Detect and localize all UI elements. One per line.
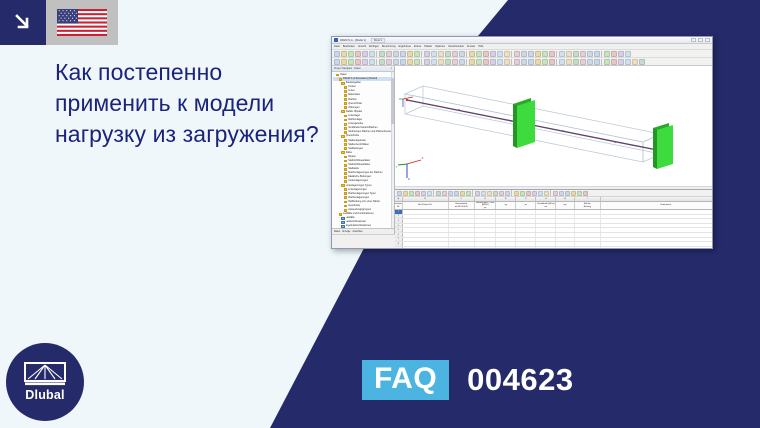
toolbar-button-24-icon[interactable] xyxy=(490,51,496,57)
table-cell[interactable] xyxy=(449,242,475,246)
toolbar-button-7-icon[interactable] xyxy=(379,51,385,57)
table-cell[interactable] xyxy=(496,242,516,246)
grid-column-header-1[interactable]: An Flächen Nr. xyxy=(403,202,449,209)
toolbar-button-30-icon[interactable] xyxy=(528,51,534,57)
dlubal-logo[interactable]: Dlubal xyxy=(6,343,84,421)
folder-blue-icon xyxy=(341,221,344,224)
toolbar-button-17-icon[interactable] xyxy=(445,51,451,57)
app-titlebar: RFEM 5.xx - [Model 1] Model 1 xyxy=(332,37,712,44)
toolbar-button-21-icon[interactable] xyxy=(469,51,475,57)
window-controls[interactable] xyxy=(691,38,710,42)
grid-group-header[interactable]: I xyxy=(575,197,601,201)
toolbar-button-9-icon[interactable] xyxy=(393,51,399,57)
view-horizontal-scrollbar[interactable] xyxy=(395,186,713,189)
grid-rows[interactable]: 1234567891011 xyxy=(395,210,713,249)
table-cell[interactable] xyxy=(496,224,516,228)
toolbar-button-2-icon[interactable] xyxy=(348,51,354,57)
menu-item-4[interactable]: Berechnung xyxy=(382,45,395,48)
table-toolbar[interactable] xyxy=(395,190,713,197)
table-toolbar-button-19-icon[interactable] xyxy=(505,191,510,196)
grid-column-label: my xyxy=(564,204,567,207)
row-number-cell[interactable]: 8 xyxy=(395,242,403,246)
folder-icon xyxy=(344,147,347,150)
toolbar2-button-8-icon[interactable] xyxy=(386,59,392,65)
table-toolbar-button-5-icon[interactable] xyxy=(427,191,432,196)
folder-icon xyxy=(344,196,347,199)
toolbar-button-35-icon[interactable] xyxy=(559,51,565,57)
toolbar2-button-1-icon[interactable] xyxy=(341,59,347,65)
toolbar-separator xyxy=(556,51,558,57)
table-cell[interactable] xyxy=(556,228,574,232)
table-toolbar-button-23-icon[interactable] xyxy=(526,191,531,196)
row-number-cell[interactable]: 6 xyxy=(395,233,403,237)
grid-column-header-row: BelastungNr.An Flächen Nr.Exzentrizitätm… xyxy=(395,202,713,210)
toolbar2-button-22-icon[interactable] xyxy=(476,59,482,65)
table-cell[interactable] xyxy=(496,210,516,214)
toolbar2-button-19-icon[interactable] xyxy=(459,59,465,65)
table-cell[interactable] xyxy=(475,215,497,219)
toolbar2-button-31-icon[interactable] xyxy=(535,59,541,65)
table-cell[interactable] xyxy=(475,242,497,246)
tree-scrollbar-thumb[interactable] xyxy=(391,78,394,124)
toolbar-button-1-icon[interactable] xyxy=(341,51,347,57)
navigator-tab-2[interactable]: Ansichten xyxy=(352,231,362,233)
model-3d-view[interactable]: X Y Z xyxy=(395,66,713,190)
toolbar-button-12-icon[interactable] xyxy=(414,51,420,57)
table-toolbar-button-12-icon[interactable] xyxy=(466,191,471,196)
toolbar-button-36-icon[interactable] xyxy=(566,51,572,57)
page-title: Как постепенно применить к модели нагруз… xyxy=(55,57,325,150)
toolbar2-button-43-icon[interactable] xyxy=(611,59,617,65)
table-cell[interactable] xyxy=(449,210,475,214)
toolbar-button-38-icon[interactable] xyxy=(580,51,586,57)
table-cell[interactable] xyxy=(475,233,497,237)
toolbar2-button-39-icon[interactable] xyxy=(587,59,593,65)
table-cell[interactable] xyxy=(556,210,574,214)
toolbar2-button-28-icon[interactable] xyxy=(514,59,520,65)
grid-group-header[interactable]: G xyxy=(536,197,556,201)
data-grid[interactable]: ABCDEFGHI BelastungNr.An Flächen Nr.Exze… xyxy=(395,197,713,249)
table-cell[interactable] xyxy=(475,247,497,249)
toolbar-separator xyxy=(601,59,603,65)
arrow-down-right-button[interactable] xyxy=(0,0,46,45)
table-cell[interactable] xyxy=(496,238,516,242)
toolbar2-button-14-icon[interactable] xyxy=(424,59,430,65)
table-cell[interactable] xyxy=(601,242,713,246)
toolbar-button-18-icon[interactable] xyxy=(452,51,458,57)
toolbar2-button-21-icon[interactable] xyxy=(469,59,475,65)
table-cell[interactable] xyxy=(536,224,556,228)
table-cell[interactable] xyxy=(496,233,516,237)
table-toolbar-button-1-icon[interactable] xyxy=(403,191,408,196)
table-cell[interactable] xyxy=(475,219,497,223)
toolbar2-button-38-icon[interactable] xyxy=(580,59,586,65)
table-cell[interactable] xyxy=(575,215,601,219)
app-toolbar-row-1[interactable] xyxy=(332,50,712,58)
table-cell[interactable] xyxy=(536,242,556,246)
toolbar-button-8-icon[interactable] xyxy=(386,51,392,57)
table-toolbar-button-0-icon[interactable] xyxy=(397,191,402,196)
grid-column-header-6[interactable]: Schnittkraft [kN·m]mx xyxy=(536,202,556,209)
table-cell[interactable] xyxy=(536,238,556,242)
tree-node[interactable]: -Ergebniskombinationen xyxy=(333,224,394,228)
menu-item-5[interactable]: Ergebnisse xyxy=(399,45,412,48)
table-cell[interactable] xyxy=(475,238,497,242)
table-cell[interactable] xyxy=(496,215,516,219)
table-cell[interactable] xyxy=(536,210,556,214)
table-toolbar-button-18-icon[interactable] xyxy=(499,191,504,196)
table-toolbar-button-16-icon[interactable] xyxy=(487,191,492,196)
toolbar-separator xyxy=(376,59,378,65)
row-number-cell[interactable]: 7 xyxy=(395,238,403,242)
table-cell[interactable] xyxy=(496,219,516,223)
folder-icon xyxy=(344,176,347,179)
row-number-cell[interactable]: 3 xyxy=(395,219,403,223)
toolbar2-button-45-icon[interactable] xyxy=(625,59,631,65)
grid-group-header[interactable]: B xyxy=(403,197,449,201)
grid-column-header-7[interactable]: my xyxy=(556,202,574,209)
folder-blue-icon xyxy=(341,217,344,220)
table-toolbar-button-25-icon[interactable] xyxy=(538,191,543,196)
toolbar-button-25-icon[interactable] xyxy=(497,51,503,57)
flag-usa-button[interactable] xyxy=(46,0,118,45)
table-cell[interactable] xyxy=(449,219,475,223)
table-cell[interactable] xyxy=(403,224,449,228)
table-cell[interactable] xyxy=(575,228,601,232)
table-cell[interactable] xyxy=(496,247,516,249)
toolbar2-button-30-icon[interactable] xyxy=(528,59,534,65)
toolbar2-button-10-icon[interactable] xyxy=(400,59,406,65)
toolbar2-button-36-icon[interactable] xyxy=(566,59,572,65)
toolbar-button-45-icon[interactable] xyxy=(625,51,631,57)
grid-group-header[interactable]: D xyxy=(475,197,497,201)
toolbar-button-26-icon[interactable] xyxy=(504,51,510,57)
toolbar-button-23-icon[interactable] xyxy=(483,51,489,57)
table-cell[interactable] xyxy=(403,219,449,223)
toolbar2-button-33-icon[interactable] xyxy=(549,59,555,65)
table-toolbar-button-15-icon[interactable] xyxy=(481,191,486,196)
beam-member xyxy=(407,100,667,152)
toolbar2-button-2-icon[interactable] xyxy=(348,59,354,65)
table-cell[interactable] xyxy=(403,228,449,232)
folder-icon xyxy=(341,151,344,154)
toolbar2-button-23-icon[interactable] xyxy=(483,59,489,65)
table-cell[interactable] xyxy=(575,219,601,223)
table-cell[interactable] xyxy=(449,228,475,232)
table-toolbar-button-30-icon[interactable] xyxy=(565,191,570,196)
table-toolbar-button-29-icon[interactable] xyxy=(559,191,564,196)
folder-icon xyxy=(344,180,347,183)
toolbar2-button-0-icon[interactable] xyxy=(334,59,340,65)
table-cell[interactable] xyxy=(516,215,536,219)
toolbar-button-11-icon[interactable] xyxy=(407,51,413,57)
toolbar-button-22-icon[interactable] xyxy=(476,51,482,57)
table-cell[interactable] xyxy=(556,219,574,223)
table-toolbar-button-4-icon[interactable] xyxy=(421,191,426,196)
table-row[interactable]: 9 xyxy=(395,247,713,249)
toolbar-button-43-icon[interactable] xyxy=(611,51,617,57)
table-toolbar-button-17-icon[interactable] xyxy=(493,191,498,196)
grid-group-header[interactable]: A xyxy=(395,197,403,201)
toolbar2-button-46-icon[interactable] xyxy=(632,59,638,65)
toolbar-button-4-icon[interactable] xyxy=(362,51,368,57)
toolbar2-button-42-icon[interactable] xyxy=(604,59,610,65)
table-cell[interactable] xyxy=(601,233,713,237)
table-cell[interactable] xyxy=(536,215,556,219)
bridge-truss-icon xyxy=(24,362,66,386)
table-toolbar-button-21-icon[interactable] xyxy=(514,191,519,196)
table-toolbar-button-26-icon[interactable] xyxy=(544,191,549,196)
toolbar-button-44-icon[interactable] xyxy=(618,51,624,57)
toolbar2-button-32-icon[interactable] xyxy=(542,59,548,65)
toolbar2-button-18-icon[interactable] xyxy=(452,59,458,65)
menu-item-6[interactable]: Extras xyxy=(414,45,421,48)
table-cell[interactable] xyxy=(575,233,601,237)
table-toolbar-button-10-icon[interactable] xyxy=(454,191,459,196)
toolbar2-button-9-icon[interactable] xyxy=(393,59,399,65)
toolbar2-button-3-icon[interactable] xyxy=(355,59,361,65)
toolbar2-button-37-icon[interactable] xyxy=(573,59,579,65)
table-cell[interactable] xyxy=(556,224,574,228)
tree-scrollbar[interactable] xyxy=(391,72,394,228)
toolbar-button-19-icon[interactable] xyxy=(459,51,465,57)
table-toolbar-button-8-icon[interactable] xyxy=(442,191,447,196)
toolbar-button-14-icon[interactable] xyxy=(424,51,430,57)
toolbar-button-33-icon[interactable] xyxy=(549,51,555,57)
table-cell[interactable] xyxy=(556,247,574,249)
menu-item-3[interactable]: Einfügen xyxy=(369,45,379,48)
table-cell[interactable] xyxy=(516,247,536,249)
table-cell[interactable] xyxy=(403,233,449,237)
menu-item-11[interactable]: Hilfe xyxy=(478,45,483,48)
table-toolbar-button-24-icon[interactable] xyxy=(532,191,537,196)
table-cell[interactable] xyxy=(556,238,574,242)
toolbar2-button-17-icon[interactable] xyxy=(445,59,451,65)
menu-item-10[interactable]: Fenster xyxy=(467,45,475,48)
table-cell[interactable] xyxy=(516,224,536,228)
folder-icon xyxy=(344,131,347,134)
table-cell[interactable] xyxy=(575,210,601,214)
grid-column-label: pz xyxy=(525,204,527,207)
toolbar2-button-5-icon[interactable] xyxy=(369,59,375,65)
project-navigator-panel: Project Navigator - Daten × -Daten-RFEM … xyxy=(332,66,395,234)
row-number-cell[interactable]: 4 xyxy=(395,224,403,228)
workspace: X Y Z ABCDEFGHI BelastungNr.An Flächen N… xyxy=(395,66,713,234)
table-cell[interactable] xyxy=(475,210,497,214)
table-cell[interactable] xyxy=(601,247,713,249)
menu-item-1[interactable]: Bearbeiten xyxy=(343,45,355,48)
project-navigator-tabs[interactable]: DatenAnzeigeAnsichten xyxy=(332,228,394,234)
grid-column-header-2[interactable]: Exzentrizitätmit RF-SOLID xyxy=(449,202,475,209)
row-number-cell[interactable]: 1 xyxy=(395,210,403,214)
table-cell[interactable] xyxy=(516,210,536,214)
folder-icon xyxy=(344,86,347,89)
navigator-tab-0[interactable]: Daten xyxy=(334,231,340,233)
table-cell[interactable] xyxy=(516,219,536,223)
table-toolbar-button-31-icon[interactable] xyxy=(571,191,576,196)
tree-node-label: Ergebniskombinationen xyxy=(346,224,371,228)
table-cell[interactable] xyxy=(575,238,601,242)
grid-column-header-8[interactable]: Auf dieBeltung xyxy=(575,202,601,209)
folder-icon xyxy=(344,90,347,93)
menu-item-7[interactable]: Tabelle xyxy=(424,45,432,48)
table-cell[interactable] xyxy=(556,215,574,219)
folder-icon xyxy=(344,156,347,159)
toolbar-button-10-icon[interactable] xyxy=(400,51,406,57)
table-cell[interactable] xyxy=(556,242,574,246)
grid-group-header[interactable]: H xyxy=(556,197,574,201)
row-number-cell[interactable]: 9 xyxy=(395,247,403,249)
grid-group-header[interactable]: F xyxy=(516,197,536,201)
toolbar2-button-16-icon[interactable] xyxy=(438,59,444,65)
table-cell[interactable] xyxy=(403,210,449,214)
table-cell[interactable] xyxy=(449,224,475,228)
svg-text:Y: Y xyxy=(396,165,398,169)
table-cell[interactable] xyxy=(601,219,713,223)
menu-item-2[interactable]: Ansicht xyxy=(358,45,366,48)
toolbar2-button-29-icon[interactable] xyxy=(521,59,527,65)
toolbar2-button-15-icon[interactable] xyxy=(431,59,437,65)
table-cell[interactable] xyxy=(475,224,497,228)
table-cell[interactable] xyxy=(556,233,574,237)
table-cell[interactable] xyxy=(516,238,536,242)
table-cell[interactable] xyxy=(403,238,449,242)
menu-item-8[interactable]: Optionen xyxy=(435,45,445,48)
toolbar2-button-26-icon[interactable] xyxy=(504,59,510,65)
close-icon[interactable]: × xyxy=(391,67,392,70)
toolbar-button-39-icon[interactable] xyxy=(587,51,593,57)
table-cell[interactable] xyxy=(449,247,475,249)
table-toolbar-button-7-icon[interactable] xyxy=(436,191,441,196)
toolbar-button-15-icon[interactable] xyxy=(431,51,437,57)
table-cell[interactable] xyxy=(601,210,713,214)
table-toolbar-button-32-icon[interactable] xyxy=(577,191,582,196)
toolbar-button-32-icon[interactable] xyxy=(542,51,548,57)
toolbar2-button-44-icon[interactable] xyxy=(618,59,624,65)
toolbar2-button-47-icon[interactable] xyxy=(639,59,645,65)
folder-icon xyxy=(341,110,344,113)
grid-group-header[interactable]: C xyxy=(449,197,475,201)
grid-column-header-4[interactable]: py xyxy=(496,202,516,209)
table-cell[interactable] xyxy=(601,224,713,228)
toolbar2-button-4-icon[interactable] xyxy=(362,59,368,65)
table-toolbar-button-2-icon[interactable] xyxy=(409,191,414,196)
folder-blue-icon xyxy=(341,225,344,228)
toolbar2-button-40-icon[interactable] xyxy=(594,59,600,65)
toolbar2-button-25-icon[interactable] xyxy=(497,59,503,65)
table-cell[interactable] xyxy=(575,247,601,249)
grid-column-label: mit RF-SOLID xyxy=(455,206,468,209)
table-cell[interactable] xyxy=(601,238,713,242)
table-cell[interactable] xyxy=(403,242,449,246)
folder-icon xyxy=(344,209,347,212)
toolbar-button-5-icon[interactable] xyxy=(369,51,375,57)
table-cell[interactable] xyxy=(536,233,556,237)
toolbar2-button-12-icon[interactable] xyxy=(414,59,420,65)
project-navigator-tree[interactable]: -Daten-RFEM 5 (Arbeitsdaten) [Modell]-Ba… xyxy=(332,72,394,228)
maximize-icon[interactable] xyxy=(698,38,703,42)
grid-column-header-9[interactable]: Kommentar xyxy=(601,202,713,209)
grid-column-label: mx xyxy=(544,206,547,209)
table-cell[interactable] xyxy=(575,224,601,228)
close-icon[interactable] xyxy=(705,38,710,42)
toolbar2-button-11-icon[interactable] xyxy=(407,59,413,65)
table-cell[interactable] xyxy=(536,228,556,232)
grid-column-header-0[interactable]: BelastungNr. xyxy=(395,202,403,209)
grid-group-header[interactable]: E xyxy=(496,197,516,201)
table-toolbar-button-3-icon[interactable] xyxy=(415,191,420,196)
toolbar-button-3-icon[interactable] xyxy=(355,51,361,57)
toolbar-button-16-icon[interactable] xyxy=(438,51,444,57)
toolbar-separator xyxy=(601,51,603,57)
menu-item-0[interactable]: Datei xyxy=(334,45,340,48)
table-cell[interactable] xyxy=(536,219,556,223)
table-cell[interactable] xyxy=(403,247,449,249)
table-cell[interactable] xyxy=(575,242,601,246)
table-cell[interactable] xyxy=(601,215,713,219)
table-cell[interactable] xyxy=(496,228,516,232)
row-number-cell[interactable]: 2 xyxy=(395,215,403,219)
table-toolbar-button-33-icon[interactable] xyxy=(583,191,588,196)
toolbar-button-28-icon[interactable] xyxy=(514,51,520,57)
table-cell[interactable] xyxy=(475,228,497,232)
navigator-tab-1[interactable]: Anzeige xyxy=(342,231,350,233)
toolbar-button-31-icon[interactable] xyxy=(535,51,541,57)
folder-icon xyxy=(344,94,347,97)
table-cell[interactable] xyxy=(403,215,449,219)
toolbar-button-29-icon[interactable] xyxy=(521,51,527,57)
coordinate-axes-icon: X Y Z xyxy=(396,156,424,181)
menu-item-9[interactable]: Zusatzmodule xyxy=(448,45,464,48)
toolbar-button-0-icon[interactable] xyxy=(334,51,340,57)
toolbar-separator xyxy=(466,59,468,65)
table-cell[interactable] xyxy=(536,247,556,249)
toolbar-button-37-icon[interactable] xyxy=(573,51,579,57)
app-toolbar-row-2[interactable] xyxy=(332,58,712,66)
toolbar-separator xyxy=(472,190,474,196)
grid-column-header-5[interactable]: pz xyxy=(516,202,536,209)
table-cell[interactable] xyxy=(516,228,536,232)
toolbar2-button-35-icon[interactable] xyxy=(559,59,565,65)
table-toolbar-button-14-icon[interactable] xyxy=(475,191,480,196)
toolbar-separator xyxy=(511,59,513,65)
table-cell[interactable] xyxy=(449,233,475,237)
table-toolbar-button-28-icon[interactable] xyxy=(553,191,558,196)
load-block-1 xyxy=(513,98,535,148)
folder-icon xyxy=(344,188,347,191)
row-number-cell[interactable]: 5 xyxy=(395,228,403,232)
app-document-tab[interactable]: Model 1 xyxy=(371,38,386,43)
table-cell[interactable] xyxy=(449,238,475,242)
minimize-icon[interactable] xyxy=(691,38,696,42)
toolbar-separator xyxy=(511,190,513,196)
table-toolbar-button-9-icon[interactable] xyxy=(448,191,453,196)
table-toolbar-button-11-icon[interactable] xyxy=(460,191,465,196)
table-cell[interactable] xyxy=(449,215,475,219)
app-body: Project Navigator - Daten × -Daten-RFEM … xyxy=(332,66,712,234)
table-toolbar-button-22-icon[interactable] xyxy=(520,191,525,196)
folder-icon xyxy=(344,106,347,109)
toolbar-button-42-icon[interactable] xyxy=(604,51,610,57)
table-cell[interactable] xyxy=(601,228,713,232)
app-title: RFEM 5.xx - [Model 1] xyxy=(340,39,366,42)
grid-column-header-3[interactable]: Belastungen - Kraft [kN/m²]px xyxy=(475,202,497,209)
toolbar-button-40-icon[interactable] xyxy=(594,51,600,57)
table-cell[interactable] xyxy=(516,242,536,246)
toolbar2-button-24-icon[interactable] xyxy=(490,59,496,65)
toolbar2-button-7-icon[interactable] xyxy=(379,59,385,65)
table-cell[interactable] xyxy=(516,233,536,237)
